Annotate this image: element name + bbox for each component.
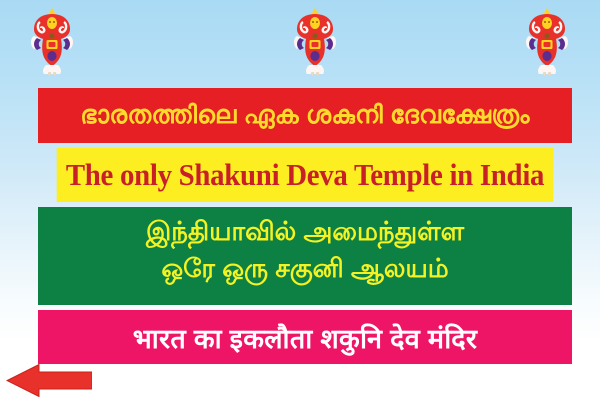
deity-idol-figure-icon bbox=[292, 6, 338, 76]
band-malayalam: ഭാരതത്തിലെ ഏക ശകുനി ദേവക്ഷേത്രം bbox=[38, 88, 572, 143]
band-hindi-text: भारत का इकलौता शकुनि देव मंदिर bbox=[133, 319, 478, 356]
idol-decoration-row bbox=[0, 0, 600, 80]
deity-idol-figure-icon bbox=[524, 6, 570, 76]
band-english-text: The only Shakuni Deva Temple in India bbox=[66, 157, 544, 193]
band-tamil-line2: ஒரே ஒரு சகுனி ஆலயம் bbox=[38, 250, 572, 287]
deity-idol-figure-icon bbox=[29, 6, 75, 76]
band-hindi: भारत का इकलौता शकुनि देव मंदिर bbox=[38, 310, 572, 364]
poster-canvas: ഭാരതത്തിലെ ഏക ശകുനി ദേവക്ഷേത്രം The only… bbox=[0, 0, 600, 400]
band-tamil-line1: இந்தியாவில் அமைந்துள்ள bbox=[38, 213, 572, 250]
arrow-left-icon bbox=[6, 364, 92, 397]
band-malayalam-text: ഭാരതത്തിലെ ഏക ശകുനി ദേവക്ഷേത്രം bbox=[80, 101, 529, 130]
band-english: The only Shakuni Deva Temple in India bbox=[57, 148, 554, 202]
band-tamil: இந்தியாவில் அமைந்துள்ள ஒரே ஒரு சகுனி ஆலய… bbox=[38, 207, 572, 305]
